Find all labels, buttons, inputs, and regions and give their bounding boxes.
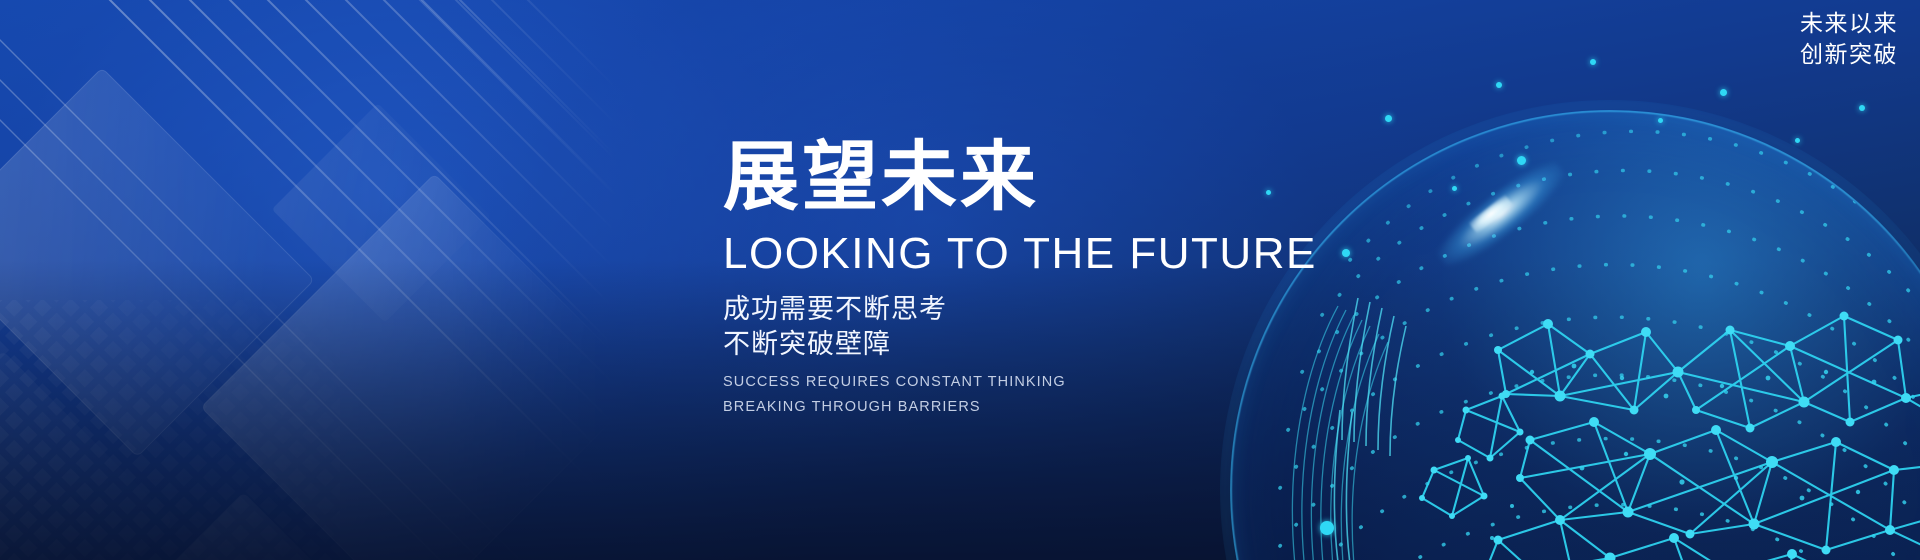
headline-subtitle-en: SUCCESS REQUIRES CONSTANT THINKING BREAK…: [723, 370, 1423, 420]
globe-highlight-flare: [1430, 152, 1573, 276]
globe-highlight-core: [1469, 194, 1514, 233]
promo-banner: 未来以来 创新突破 展望未来 LOOKING TO THE FUTURE 成功需…: [0, 0, 1920, 560]
accent-dot: [1859, 105, 1865, 111]
headline-block: 展望未来 LOOKING TO THE FUTURE 成功需要不断思考 不断突破…: [723, 140, 1423, 420]
subtitle-cn-line2: 不断突破壁障: [723, 327, 1423, 362]
accent-dot: [1496, 82, 1502, 88]
headline-title-cn: 展望未来: [723, 140, 1423, 216]
accent-dot: [1795, 138, 1800, 143]
accent-dot: [1385, 115, 1392, 122]
headline-title-en: LOOKING TO THE FUTURE: [723, 232, 1423, 276]
subtitle-cn-line1: 成功需要不断思考: [723, 292, 1423, 327]
corner-tagline: 未来以来 创新突破: [1800, 8, 1898, 70]
subtitle-en-line1: SUCCESS REQUIRES CONSTANT THINKING: [723, 370, 1423, 395]
diagonal-geometric-pattern: [0, 0, 620, 560]
accent-dot: [1658, 118, 1663, 123]
corner-tagline-line1: 未来以来: [1800, 8, 1898, 39]
accent-dot: [1320, 521, 1334, 535]
headline-subtitle-cn: 成功需要不断思考 不断突破壁障: [723, 292, 1423, 361]
corner-tagline-line2: 创新突破: [1800, 39, 1898, 70]
accent-dot: [1590, 59, 1596, 65]
accent-dot: [1517, 156, 1526, 165]
subtitle-en-line2: BREAKING THROUGH BARRIERS: [723, 395, 1423, 420]
accent-dot: [1720, 89, 1727, 96]
accent-dot: [1452, 186, 1457, 191]
